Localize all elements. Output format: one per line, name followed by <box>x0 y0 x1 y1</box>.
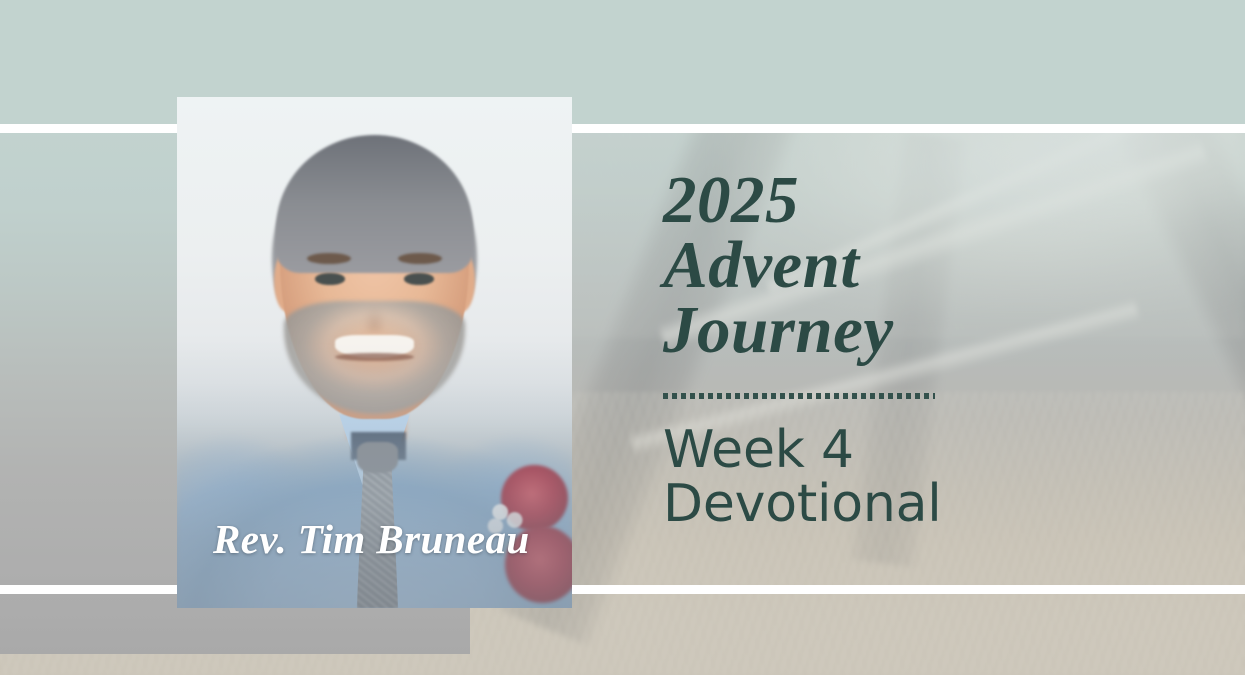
page-subtitle: Week 4 Devotional <box>663 423 1183 531</box>
portrait-card: Rev. Tim Bruneau <box>177 97 572 608</box>
portrait-caption-name: Rev. Tim Bruneau <box>213 515 530 563</box>
subtitle-line-2: Devotional <box>663 477 1183 531</box>
title-line-3: Journey <box>663 298 1183 363</box>
title-line-1: 2025 <box>663 168 1183 233</box>
title-line-2: Advent <box>663 233 1183 298</box>
dotted-divider <box>663 393 935 399</box>
text-block: 2025 Advent Journey Week 4 Devotional <box>663 168 1183 531</box>
subtitle-line-1: Week 4 <box>663 423 1183 477</box>
page-title: 2025 Advent Journey <box>663 168 1183 363</box>
advent-title-card: Rev. Tim Bruneau 2025 Advent Journey Wee… <box>0 0 1245 675</box>
